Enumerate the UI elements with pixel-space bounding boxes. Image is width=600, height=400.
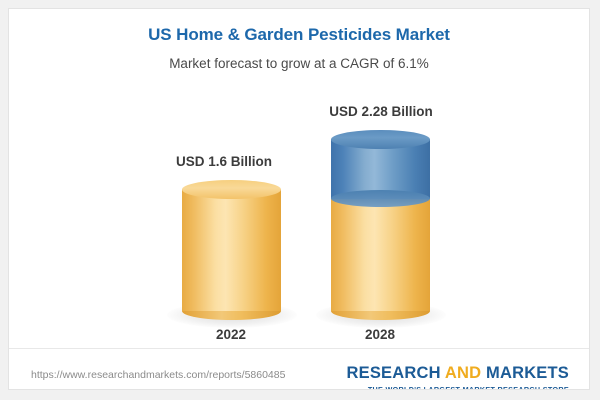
logo-word-and: AND (445, 364, 486, 382)
bar-segment-seam-2028 (331, 190, 430, 207)
bar-body-2022 (182, 189, 281, 311)
research-and-markets-logo[interactable]: RESEARCH AND MARKETS THE WORLD'S LARGEST… (347, 364, 570, 390)
logo-word-markets: MARKETS (486, 364, 569, 382)
category-label-2028: 2028 (270, 327, 490, 342)
source-url-link[interactable]: https://www.researchandmarkets.com/repor… (31, 369, 285, 381)
logo-tagline: THE WORLD'S LARGEST MARKET RESEARCH STOR… (347, 385, 570, 390)
value-label-2022: USD 1.6 Billion (114, 154, 334, 169)
logo-wordmark: RESEARCH AND MARKETS (347, 364, 570, 383)
bar-top-ellipse-2028 (331, 130, 430, 149)
chart-plot-area: USD 1.6 Billion 2022 USD 2.28 Billion 20… (9, 9, 590, 349)
value-label-2028: USD 2.28 Billion (271, 104, 491, 119)
bar-top-ellipse-2022 (182, 180, 281, 199)
logo-word-research: RESEARCH (347, 364, 445, 382)
bar-base-segment-2028 (331, 197, 430, 311)
footer-divider (9, 348, 590, 349)
infographic-card: US Home & Garden Pesticides Market Marke… (8, 8, 590, 390)
